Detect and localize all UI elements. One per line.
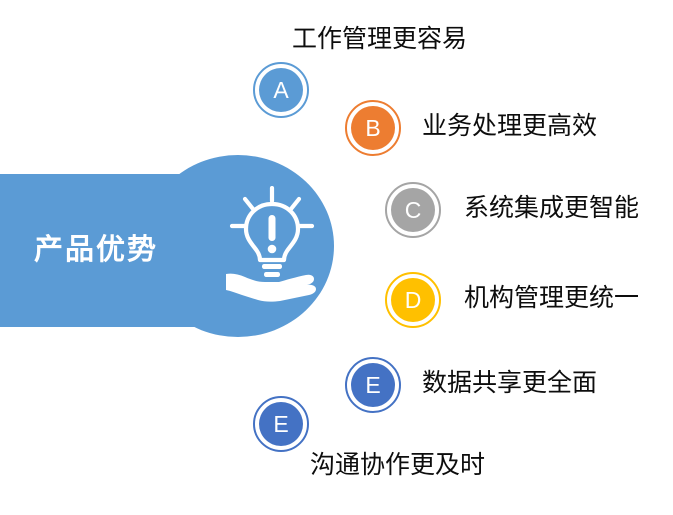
node-disc-d: D <box>391 278 435 322</box>
node-circle-e1[interactable]: E <box>345 357 401 413</box>
node-label-d: 机构管理更统一 <box>464 283 639 313</box>
node-label-a: 工作管理更容易 <box>292 24 467 54</box>
node-label-b: 业务处理更高效 <box>422 111 597 141</box>
banner-title: 产品优势 <box>34 233 214 267</box>
node-circle-c[interactable]: C <box>385 182 441 238</box>
node-label-e1: 数据共享更全面 <box>422 368 597 398</box>
node-letter-e1: E <box>365 374 380 397</box>
node-disc-e1: E <box>351 363 395 407</box>
node-letter-e2: E <box>273 413 288 436</box>
node-disc-e2: E <box>259 402 303 446</box>
node-label-c: 系统集成更智能 <box>464 193 639 223</box>
lightbulb-in-hand-icon <box>224 186 320 306</box>
node-circle-b[interactable]: B <box>345 100 401 156</box>
node-letter-a: A <box>273 79 288 102</box>
node-circle-d[interactable]: D <box>385 272 441 328</box>
node-disc-b: B <box>351 106 395 150</box>
product-advantages-diagram: 产品优势 A 工作管理更容易 <box>0 0 673 515</box>
node-circle-a[interactable]: A <box>253 62 309 118</box>
node-letter-b: B <box>365 117 380 140</box>
node-circle-e2[interactable]: E <box>253 396 309 452</box>
node-letter-d: D <box>405 289 422 312</box>
node-disc-c: C <box>391 188 435 232</box>
node-label-e2: 沟通协作更及时 <box>310 450 485 480</box>
node-letter-c: C <box>405 199 422 222</box>
node-disc-a: A <box>259 68 303 112</box>
